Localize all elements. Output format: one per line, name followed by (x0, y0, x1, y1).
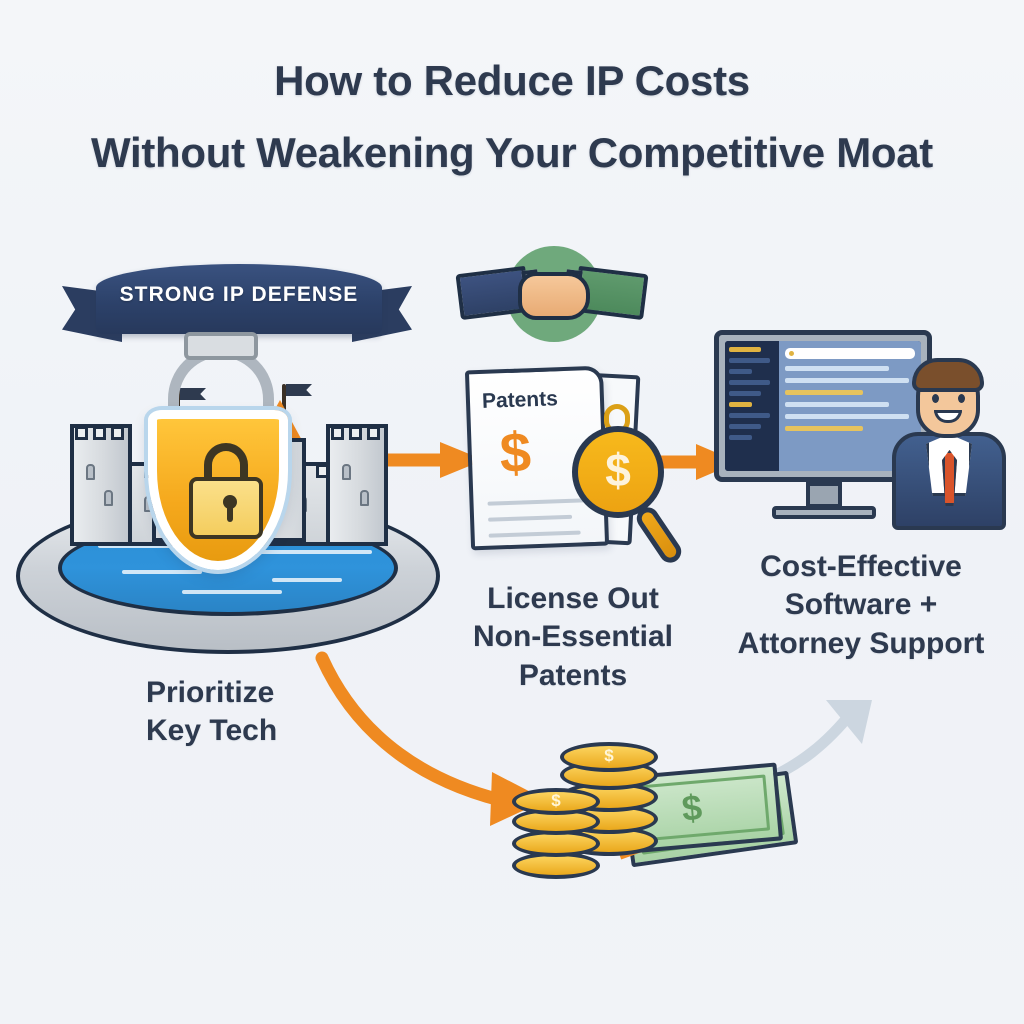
attorney-hair (912, 358, 984, 392)
infographic-canvas: How to Reduce IP Costs Without Weakening… (0, 0, 1024, 1024)
magnifier-handle (633, 503, 686, 567)
title-line-2: Without Weakening Your Competitive Moat (0, 128, 1024, 178)
document-title: Patents (482, 387, 559, 414)
magnifier-lens-icon: $ (572, 426, 664, 518)
keyhole-icon (223, 495, 237, 509)
page-title: How to Reduce IP Costs Without Weakening… (0, 56, 1024, 177)
caption-line: Patents (436, 657, 710, 695)
document-dollar-symbol: $ (499, 424, 532, 481)
caption-license-out-non-essential-patents: License Out Non-Essential Patents (436, 580, 710, 695)
castle-moat-shield-lock-icon (6, 330, 446, 660)
caption-line: Prioritize (146, 674, 406, 712)
caption-cost-effective-software-attorney-support: Cost-Effective Software + Attorney Suppo… (706, 548, 1016, 663)
castle-tower-left (70, 424, 132, 546)
monitor-base (772, 506, 876, 519)
handshake-icon (452, 242, 652, 358)
attorney-eye-right (958, 394, 965, 403)
lock-top-plate (184, 332, 258, 360)
caption-prioritize-key-tech: Prioritize Key Tech (146, 674, 406, 751)
coin-dollar-symbol: $ (551, 791, 560, 811)
handshake-hands (518, 272, 590, 320)
dashboard-sidebar (725, 341, 779, 471)
banknote-dollar-symbol: $ (680, 786, 704, 830)
patent-document-magnifier-icon: Patents $ $ (452, 364, 692, 564)
title-line-1: How to Reduce IP Costs (0, 56, 1024, 106)
banner-label: STRONG IP DEFENSE (120, 283, 359, 307)
attorney-avatar (890, 358, 1008, 530)
castle-tower-right (326, 424, 388, 546)
caption-line: Attorney Support (706, 625, 1016, 663)
magnifier-dollar-symbol: $ (605, 447, 631, 493)
coin-dollar-symbol: $ (604, 746, 613, 766)
document-text-line (487, 498, 585, 505)
attorney-eye-left (932, 394, 939, 403)
monitor-dashboard-attorney-icon (714, 330, 1014, 545)
coins-banknotes-icon: $ $ $ (508, 742, 818, 882)
caption-line: Non-Essential (436, 618, 710, 656)
document-text-line (489, 531, 581, 538)
padlock-body (189, 477, 263, 539)
document-text-line (488, 515, 572, 522)
coin-stack-short: $ (512, 788, 608, 880)
monitor-neck (806, 482, 842, 508)
caption-line: Software + (706, 586, 1016, 624)
ribbon-body: STRONG IP DEFENSE (96, 264, 382, 334)
caption-line: License Out (436, 580, 710, 618)
caption-line: Key Tech (146, 712, 406, 750)
caption-line: Cost-Effective (706, 548, 1016, 586)
